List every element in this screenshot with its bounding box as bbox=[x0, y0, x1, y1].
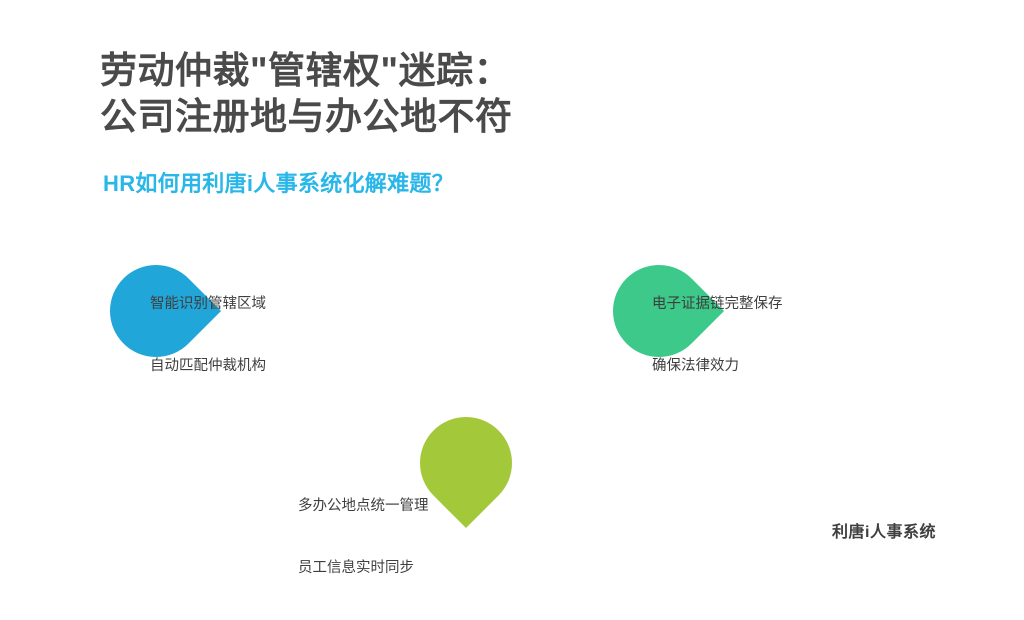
caption-olive-line-2: 员工信息实时同步 bbox=[298, 558, 429, 579]
page-title: 劳动仲裁"管辖权"迷踪： 公司注册地与办公地不符 bbox=[100, 48, 920, 140]
caption-green-line-2: 确保法律效力 bbox=[652, 356, 783, 377]
title-line-1: 劳动仲裁"管辖权"迷踪： bbox=[100, 48, 920, 94]
caption-blue: 智能识别管辖区域 自动匹配仲裁机构 bbox=[150, 253, 266, 418]
caption-green: 电子证据链完整保存 确保法律效力 bbox=[652, 253, 783, 418]
caption-olive: 多办公地点统一管理 员工信息实时同步 bbox=[298, 455, 429, 620]
caption-blue-line-2: 自动匹配仲裁机构 bbox=[150, 356, 266, 377]
page-subtitle: HR如何用利唐i人事系统化解难题？ bbox=[103, 166, 454, 198]
slide-canvas: 劳动仲裁"管辖权"迷踪： 公司注册地与办公地不符 HR如何用利唐i人事系统化解难… bbox=[0, 0, 1024, 576]
caption-olive-line-1: 多办公地点统一管理 bbox=[298, 496, 429, 517]
title-line-2: 公司注册地与办公地不符 bbox=[100, 94, 920, 140]
caption-green-line-1: 电子证据链完整保存 bbox=[652, 294, 783, 315]
footer-brand: 利唐i人事系统 bbox=[832, 518, 936, 542]
caption-blue-line-1: 智能识别管辖区域 bbox=[150, 294, 266, 315]
